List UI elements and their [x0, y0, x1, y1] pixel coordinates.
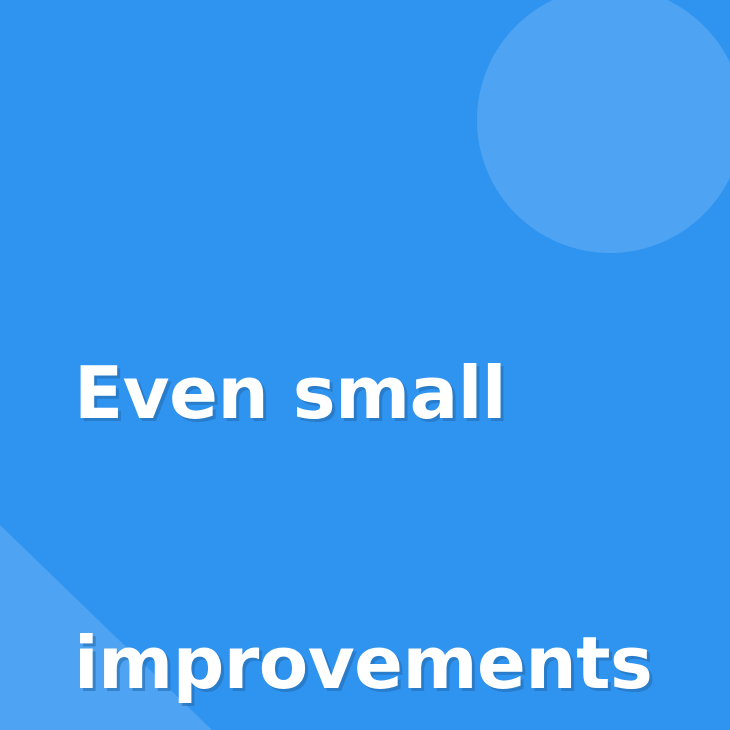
- quote-card: Even small improvements can equate to bi…: [0, 0, 730, 730]
- quote-line-2: improvements: [74, 618, 674, 708]
- quote-line-1: Even small: [74, 348, 674, 438]
- quote-text: Even small improvements can equate to bi…: [74, 168, 674, 730]
